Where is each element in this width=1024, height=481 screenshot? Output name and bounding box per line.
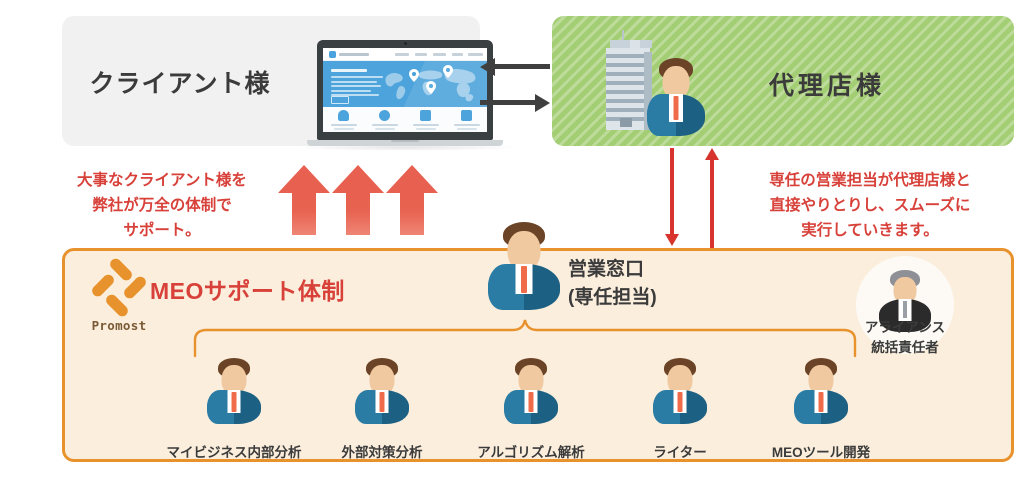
role-label-3: アルゴリズム解析 トレンド分析 [446, 422, 616, 481]
left-callout-line-3: サポート。 [54, 218, 270, 243]
sales-window-avatar [487, 222, 561, 298]
right-callout-line-2: 直接やりとりし、スムーズに [724, 193, 1016, 218]
businessman-avatar [503, 358, 559, 416]
role-item: アルゴリズム解析 トレンド分析 [446, 358, 616, 481]
role-item: マイビジネス内部分析 施策・チューニング [149, 358, 319, 481]
role-line-1: 外部対策分析 [342, 445, 423, 460]
agency-businessman-avatar [645, 58, 707, 138]
role-line-1: ライター [653, 445, 706, 460]
up-arrow-icon [332, 165, 384, 235]
role-label-5: MEOツール開発 エンジニア [736, 422, 906, 481]
businessman-avatar [793, 358, 849, 416]
businessman-avatar [206, 358, 262, 416]
chart-icon [461, 110, 472, 121]
client-label: クライアント様 [80, 64, 280, 100]
alliance-line-1: アライアンス [838, 318, 972, 338]
alliance-line-2: 統括責任者 [838, 338, 972, 358]
map-pin-icon [443, 65, 453, 78]
alliance-label: アライアンス 統括責任者 [838, 318, 972, 359]
lightbulb-icon [338, 110, 349, 121]
role-item: 外部対策分析 施策・チューニング [297, 358, 467, 481]
role-label-1: マイビジネス内部分析 施策・チューニング [149, 422, 319, 481]
right-callout-line-1: 専任の営業担当が代理店様と [724, 168, 1016, 193]
right-callout-text: 専任の営業担当が代理店様と 直接やりとりし、スムーズに 実行していきます。 [724, 168, 1016, 243]
businessman-avatar [354, 358, 410, 416]
sales-window-label: 営業窓口 (専任担当) [568, 256, 748, 311]
device-icon [420, 110, 431, 121]
role-line-1: アルゴリズム解析 [477, 445, 585, 460]
role-line-1: マイビジネス内部分析 [167, 445, 302, 460]
laptop-website-mockup-icon [307, 40, 507, 158]
map-pin-icon [426, 81, 436, 94]
sales-window-line-2: (専任担当) [568, 284, 748, 312]
promost-pinwheel-logo-icon [88, 262, 150, 326]
right-callout-line-3: 実行していきます。 [724, 218, 1016, 243]
world-map-icon [381, 64, 485, 104]
left-callout-line-1: 大事なクライアント様を [54, 168, 270, 193]
sales-window-line-1: 営業窓口 [568, 256, 748, 284]
up-arrow-icon [278, 165, 330, 235]
role-label-2: 外部対策分析 施策・チューニング [297, 422, 467, 481]
client-box: クライアント様 [62, 16, 480, 146]
bracket-connector [185, 318, 865, 358]
gear-icon [379, 110, 390, 121]
meo-title: MEOサポート体制 [150, 272, 345, 306]
role-line-1: MEOツール開発 [772, 445, 870, 460]
map-pin-icon [409, 69, 419, 82]
left-callout-line-2: 弊社が万全の体制で [54, 193, 270, 218]
up-arrow-icon [386, 165, 438, 235]
businessman-avatar [652, 358, 708, 416]
promost-wordmark: Promost [80, 318, 158, 333]
diagram-canvas: クライアント様 [0, 0, 1024, 481]
role-item: MEOツール開発 エンジニア [736, 358, 906, 481]
left-callout-text: 大事なクライアント様を 弊社が万全の体制で サポート。 [54, 168, 270, 243]
agency-label: 代理店様 [712, 66, 942, 102]
